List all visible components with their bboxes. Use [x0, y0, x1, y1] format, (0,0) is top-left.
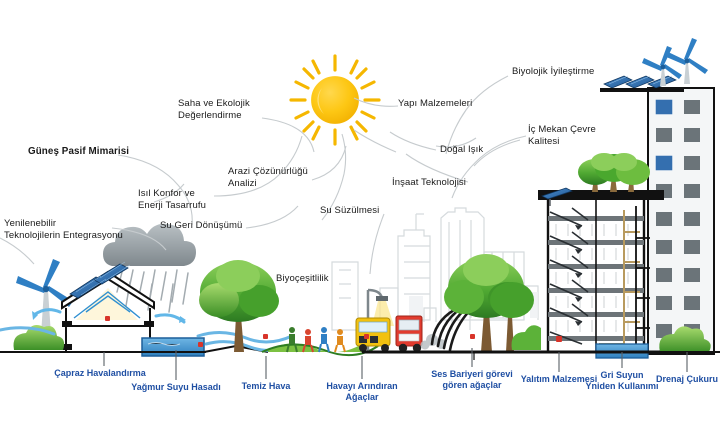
- label-temiz-hava: Temiz Hava: [232, 381, 300, 392]
- bottom-label-ticks: [0, 0, 720, 427]
- label-ses-bariyeri-agaclar: Ses Bariyeri görevi gören ağaçlar: [420, 369, 524, 391]
- label-havayi-arindiran-agaclar: Havayı Arındıran Ağaçlar: [314, 381, 410, 403]
- label-drenaj-cukuru: Drenaj Çukuru: [648, 374, 720, 385]
- infographic-canvas: Güneş Pasif Mimarisi Yenilenebilir Tekno…: [0, 0, 720, 427]
- label-capraz-havalandirma: Çapraz Havalandırma: [40, 368, 160, 379]
- label-yagmur-suyu-hasadi: Yağmur Suyu Hasadı: [126, 382, 226, 393]
